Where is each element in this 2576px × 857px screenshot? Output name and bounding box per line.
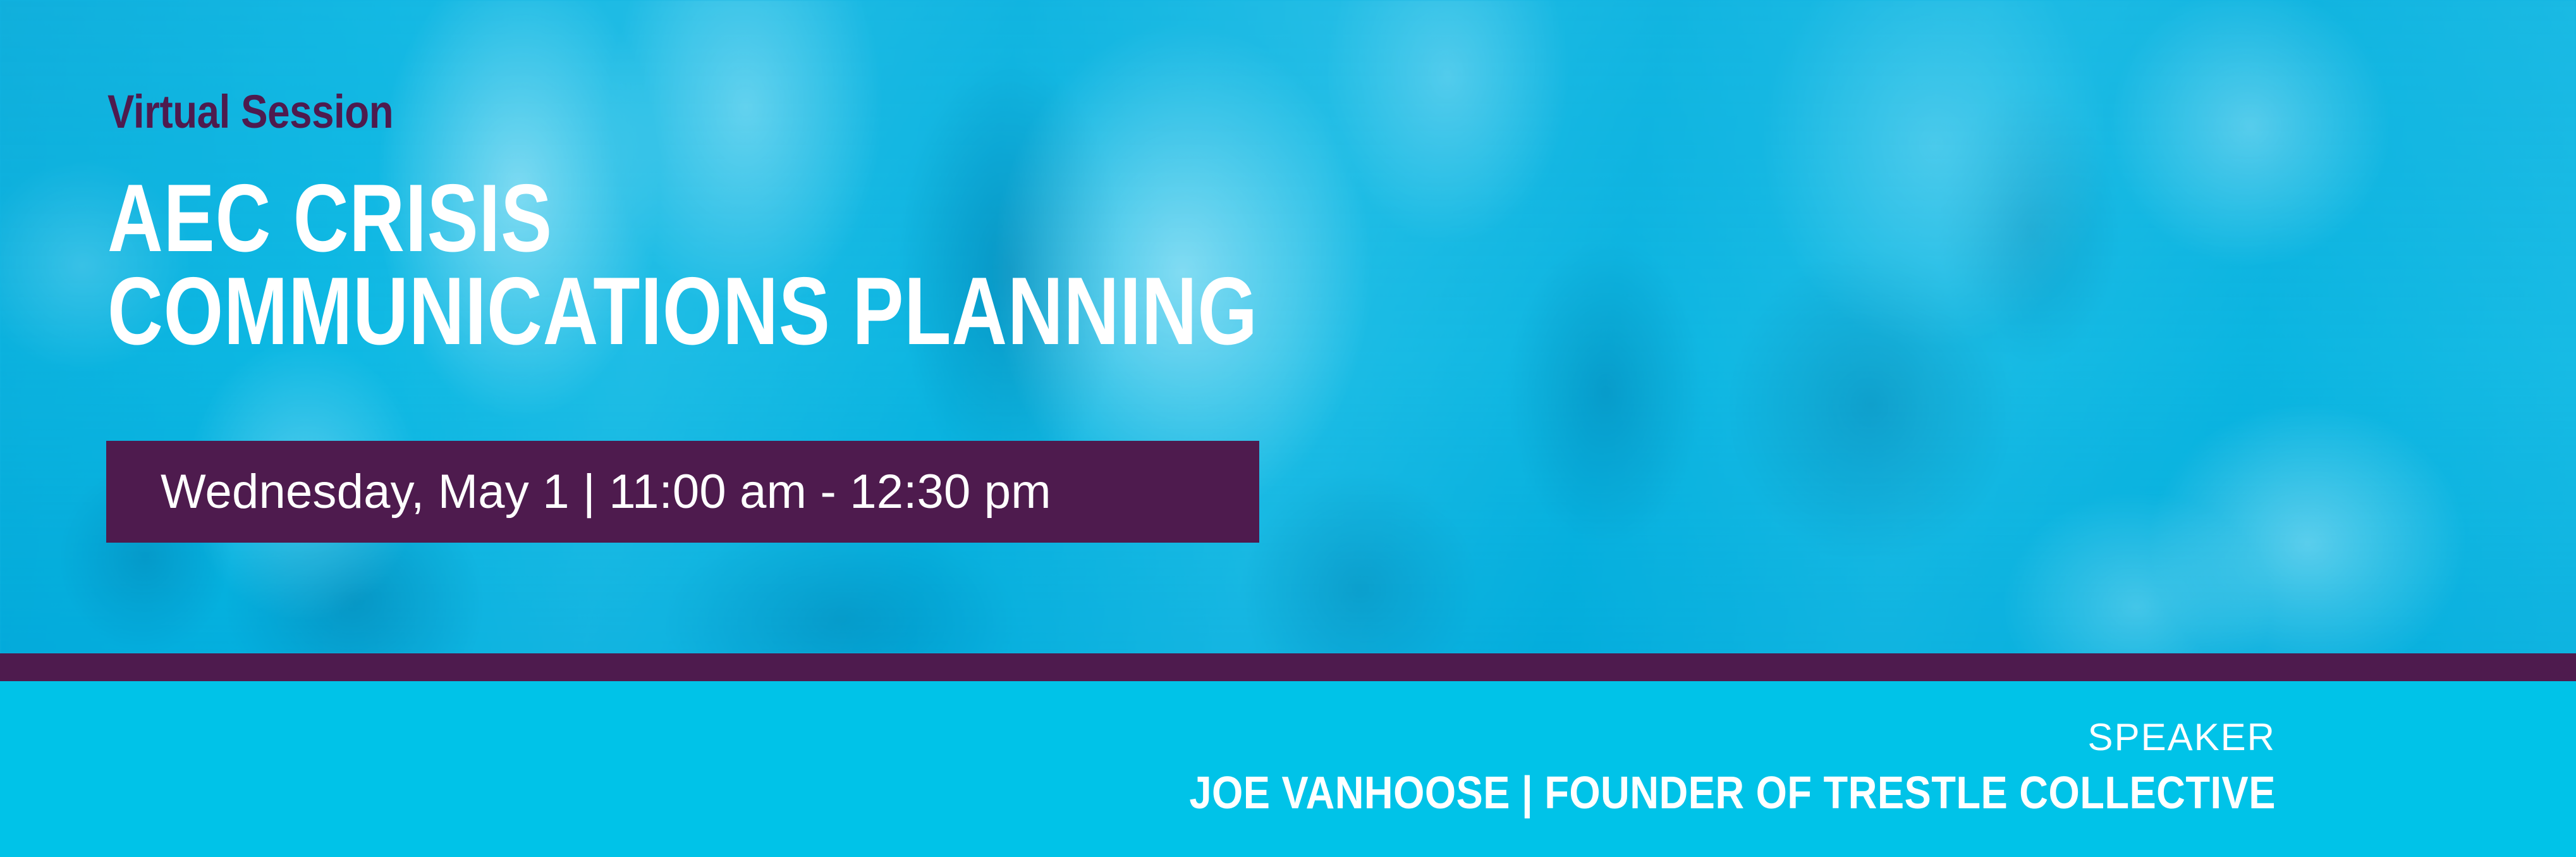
page-title: AEC CRISIS COMMUNICATIONS PLANNING [107,172,1258,359]
eyebrow-label: Virtual Session [107,89,393,135]
speaker-block: SPEAKER JOE VANHOOSE | FOUNDER OF TRESTL… [1041,681,2276,857]
headline-line-1: AEC CRISIS [107,172,1258,265]
headline-line-2: COMMUNICATIONS PLANNING [107,265,1258,358]
date-time-chip: Wednesday, May 1 | 11:00 am - 12:30 pm [106,441,1259,543]
footer-section: SPEAKER JOE VANHOOSE | FOUNDER OF TRESTL… [0,681,2576,857]
event-promo-banner: Virtual Session AEC CRISIS COMMUNICATION… [0,0,2576,857]
speaker-name-title: JOE VANHOOSE | FOUNDER OF TRESTLE COLLEC… [1189,770,2276,816]
speaker-kicker-label: SPEAKER [2088,718,2276,756]
purple-divider-bar [0,653,2576,681]
date-time-text: Wednesday, May 1 | 11:00 am - 12:30 pm [106,468,1051,516]
